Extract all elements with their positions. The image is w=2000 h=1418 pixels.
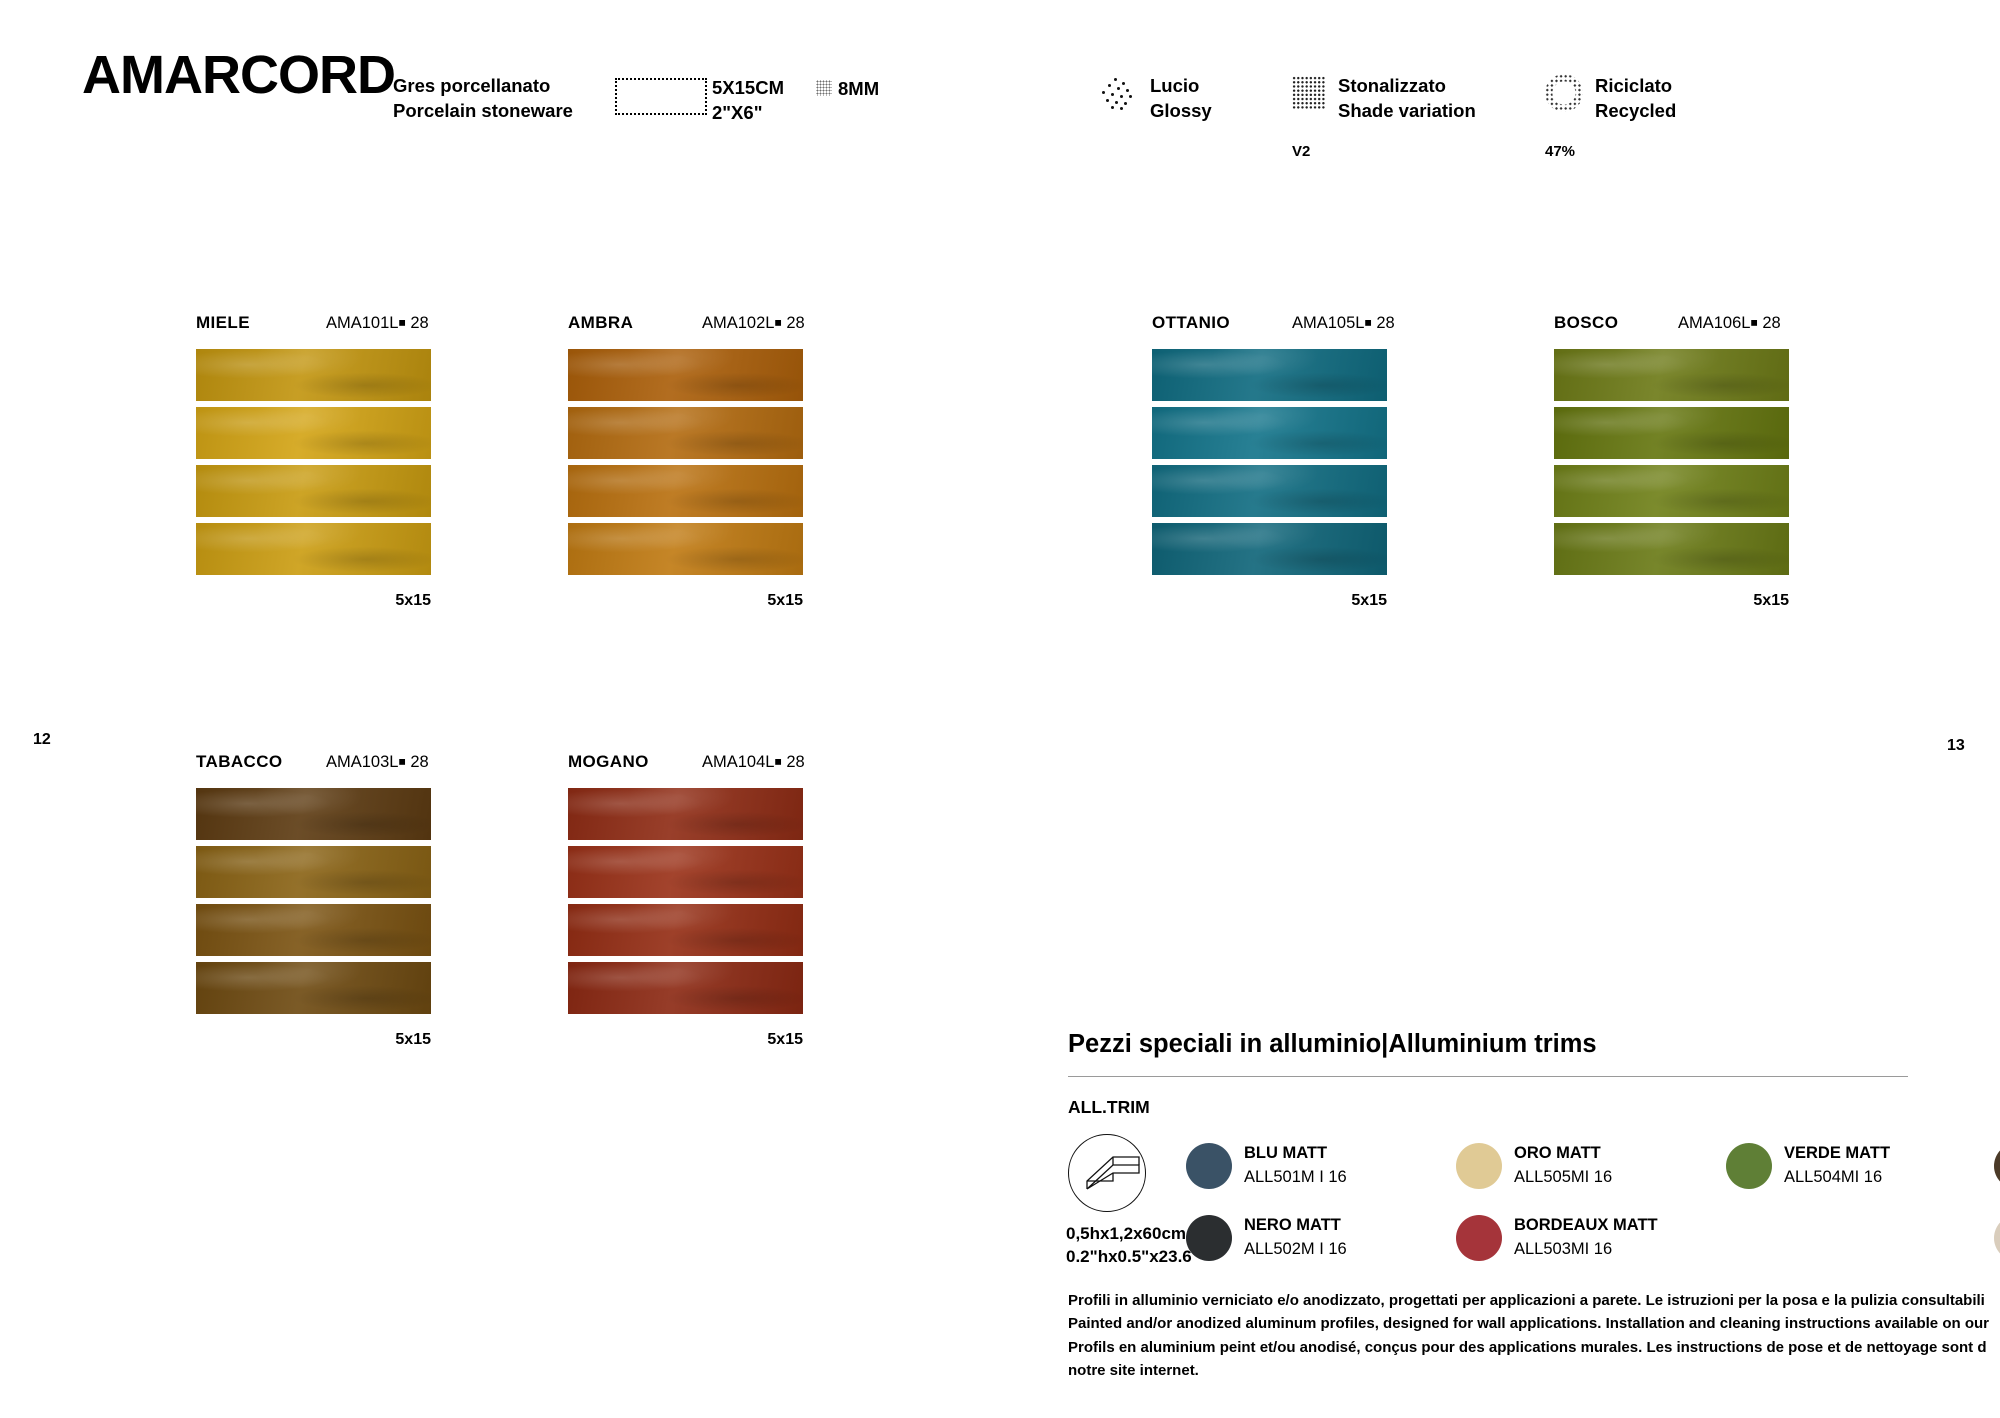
- trims-title-it: Pezzi speciali in alluminio: [1068, 1030, 1381, 1058]
- product-name: AMBRA: [568, 313, 633, 333]
- recycled-ring-icon: [1545, 74, 1583, 112]
- trim-code: ALL503MI 16: [1514, 1238, 1658, 1262]
- disclaimer-line-it: Profili in alluminio verniciato e/o anod…: [1068, 1289, 2000, 1312]
- trim-name: NERO MATT: [1244, 1214, 1347, 1238]
- material-description: Gres porcellanato Porcelain stoneware: [393, 74, 573, 123]
- trim-name: BORDEAUX MATT: [1514, 1214, 1658, 1238]
- code-marker: ■: [774, 316, 781, 330]
- feature-shade-it: Stonalizzato: [1338, 74, 1476, 99]
- feature-shade-en: Shade variation: [1338, 99, 1476, 124]
- shade-variation-grid-icon: [1292, 76, 1326, 110]
- product-size: 5x15: [196, 1031, 431, 1049]
- material-en: Porcelain stoneware: [393, 99, 573, 124]
- feature-glossy-it: Lucio: [1150, 74, 1212, 99]
- trim-item-moka-anodizzato: MOKA ANODIZZATO ALL506A I 17: [1994, 1142, 2000, 1190]
- trim-item-nero-matt: NERO MATT ALL502M I 16: [1186, 1214, 1347, 1262]
- product-name: BOSCO: [1554, 313, 1618, 333]
- trim-item-verde-matt: VERDE MATT ALL504MI 16: [1726, 1142, 1890, 1190]
- code-marker: ■: [1364, 316, 1371, 330]
- trim-color-swatch: [1994, 1215, 2000, 1261]
- tile-swatch: [568, 407, 803, 459]
- feature-glossy: Lucio Glossy: [1150, 74, 1212, 123]
- trim-item-titanio-anodizzato: TITANIO ANODIZZATO ALL507A I 17: [1994, 1214, 2000, 1262]
- tile-stack: [568, 788, 803, 1014]
- feature-shade-variation: Stonalizzato Shade variation V2: [1338, 74, 1476, 123]
- tile-swatch: [196, 407, 431, 459]
- product-group-bosco: BOSCO AMA106L■ 28 5x15: [1554, 313, 1789, 610]
- trim-color-swatch: [1456, 1143, 1502, 1189]
- trim-color-swatch: [1186, 1143, 1232, 1189]
- tile-swatch: [1152, 349, 1387, 401]
- profile-dims-imperial: 0.2"hx0.5"x23.6": [1066, 1245, 1200, 1268]
- code-marker: ■: [1750, 316, 1757, 330]
- tile-stack: [568, 349, 803, 575]
- product-group-tabacco: TABACCO AMA103L■ 28 5x15: [196, 752, 431, 1049]
- trims-title: Pezzi speciali in alluminio|Alluminium t…: [1068, 1030, 1958, 1059]
- tile-swatch: [1554, 465, 1789, 517]
- tile-swatch: [568, 788, 803, 840]
- tile-swatch: [1554, 523, 1789, 575]
- profile-dimensions: 0,5hx1,2x60cm 0.2"hx0.5"x23.6": [1066, 1222, 1200, 1269]
- product-group-miele: MIELE AMA101L■ 28 5x15: [196, 313, 431, 610]
- tile-swatch: [196, 904, 431, 956]
- trims-divider: [1068, 1076, 1908, 1077]
- tile-swatch: [1554, 349, 1789, 401]
- product-qty: 28: [1376, 314, 1394, 332]
- product-code: AMA105L■ 28: [1292, 314, 1395, 333]
- trims-body: 0,5hx1,2x60cm 0.2"hx0.5"x23.6" BLU MATT …: [1068, 1134, 1958, 1284]
- tile-swatch: [568, 962, 803, 1014]
- feature-recycled-en: Recycled: [1595, 99, 1676, 124]
- trims-title-en: Alluminium trims: [1388, 1030, 1596, 1058]
- thickness-icon: [816, 80, 832, 96]
- trim-name: ORO MATT: [1514, 1142, 1612, 1166]
- tile-swatch: [1152, 465, 1387, 517]
- tile-swatch: [196, 465, 431, 517]
- product-name: MIELE: [196, 313, 250, 333]
- feature-recycled-it: Riciclato: [1595, 74, 1676, 99]
- disclaimer-line-en: Painted and/or anodized aluminum profile…: [1068, 1312, 2000, 1335]
- trim-color-swatch: [1726, 1143, 1772, 1189]
- page-number-right: 13: [1947, 737, 1965, 755]
- tile-format-icon: [615, 78, 707, 115]
- product-group-ambra: AMBRA AMA102L■ 28 5x15: [568, 313, 803, 610]
- product-qty: 28: [410, 314, 428, 332]
- product-size: 5x15: [1554, 592, 1789, 610]
- thickness-label: 8MM: [838, 78, 879, 100]
- tile-stack: [196, 349, 431, 575]
- catalog-page: AMARCORD Gres porcellanato Porcelain sto…: [0, 0, 2000, 1418]
- tile-stack: [1554, 349, 1789, 575]
- tile-swatch: [196, 962, 431, 1014]
- tile-swatch: [196, 349, 431, 401]
- page-number-left: 12: [33, 731, 51, 749]
- disclaimer-line-fr: Profils en aluminium peint et/ou anodisé…: [1068, 1336, 2000, 1359]
- product-code: AMA106L■ 28: [1678, 314, 1781, 333]
- product-code: AMA101L■ 28: [326, 314, 429, 333]
- code-marker: ■: [398, 316, 405, 330]
- trim-name: VERDE MATT: [1784, 1142, 1890, 1166]
- product-qty: 28: [410, 753, 428, 771]
- product-qty: 28: [1762, 314, 1780, 332]
- tile-swatch: [568, 465, 803, 517]
- trim-color-swatch: [1994, 1143, 2000, 1189]
- disclaimer-line-fr-cont: notre site internet.: [1068, 1359, 2000, 1382]
- trim-code: ALL501M I 16: [1244, 1166, 1347, 1190]
- tile-swatch: [568, 846, 803, 898]
- trim-code: ALL505MI 16: [1514, 1166, 1612, 1190]
- tile-swatch: [568, 523, 803, 575]
- tile-swatch: [196, 788, 431, 840]
- glossy-dots-icon: [1100, 76, 1134, 110]
- format-imperial: 2"X6": [712, 101, 784, 126]
- trim-color-swatch: [1186, 1215, 1232, 1261]
- trims-section: Pezzi speciali in alluminio|Alluminium t…: [1068, 1030, 1958, 1284]
- tile-swatch: [568, 349, 803, 401]
- tile-stack: [196, 788, 431, 1014]
- product-group-mogano: MOGANO AMA104L■ 28 5x15: [568, 752, 803, 1049]
- product-name: MOGANO: [568, 752, 649, 772]
- tile-swatch: [1152, 523, 1387, 575]
- profile-dims-metric: 0,5hx1,2x60cm: [1066, 1222, 1200, 1245]
- trim-code: ALL504MI 16: [1784, 1166, 1890, 1190]
- material-it: Gres porcellanato: [393, 74, 573, 99]
- tile-swatch: [1554, 407, 1789, 459]
- product-code: AMA103L■ 28: [326, 753, 429, 772]
- feature-recycled: Riciclato Recycled 47%: [1595, 74, 1676, 123]
- tile-swatch: [1152, 407, 1387, 459]
- product-group-ottanio: OTTANIO AMA105L■ 28 5x15: [1152, 313, 1387, 610]
- trim-color-swatch: [1456, 1215, 1502, 1261]
- trim-item-blu-matt: BLU MATT ALL501M I 16: [1186, 1142, 1347, 1190]
- code-marker: ■: [398, 755, 405, 769]
- tile-stack: [1152, 349, 1387, 575]
- trims-disclaimer: Profili in alluminio verniciato e/o anod…: [1068, 1289, 2000, 1382]
- tile-format-label: 5X15CM 2"X6": [712, 76, 784, 126]
- product-qty: 28: [786, 314, 804, 332]
- trims-subtitle: ALL.TRIM: [1068, 1097, 1958, 1118]
- shade-variation-value: V2: [1292, 143, 1310, 160]
- trim-item-oro-matt: ORO MATT ALL505MI 16: [1456, 1142, 1612, 1190]
- product-size: 5x15: [568, 592, 803, 610]
- product-code: AMA104L■ 28: [702, 753, 805, 772]
- aluminium-profile-icon: [1068, 1134, 1146, 1212]
- tile-swatch: [568, 904, 803, 956]
- code-marker: ■: [774, 755, 781, 769]
- product-code: AMA102L■ 28: [702, 314, 805, 333]
- tile-swatch: [196, 523, 431, 575]
- trim-name: BLU MATT: [1244, 1142, 1347, 1166]
- product-qty: 28: [786, 753, 804, 771]
- page-title: AMARCORD: [82, 48, 395, 102]
- product-name: TABACCO: [196, 752, 283, 772]
- tile-swatch: [196, 846, 431, 898]
- product-size: 5x15: [1152, 592, 1387, 610]
- format-metric: 5X15CM: [712, 76, 784, 101]
- product-size: 5x15: [568, 1031, 803, 1049]
- product-name: OTTANIO: [1152, 313, 1230, 333]
- product-size: 5x15: [196, 592, 431, 610]
- feature-glossy-en: Glossy: [1150, 99, 1212, 124]
- trim-item-bordeaux-matt: BORDEAUX MATT ALL503MI 16: [1456, 1214, 1658, 1262]
- trim-code: ALL502M I 16: [1244, 1238, 1347, 1262]
- recycled-percentage: 47%: [1545, 143, 1575, 160]
